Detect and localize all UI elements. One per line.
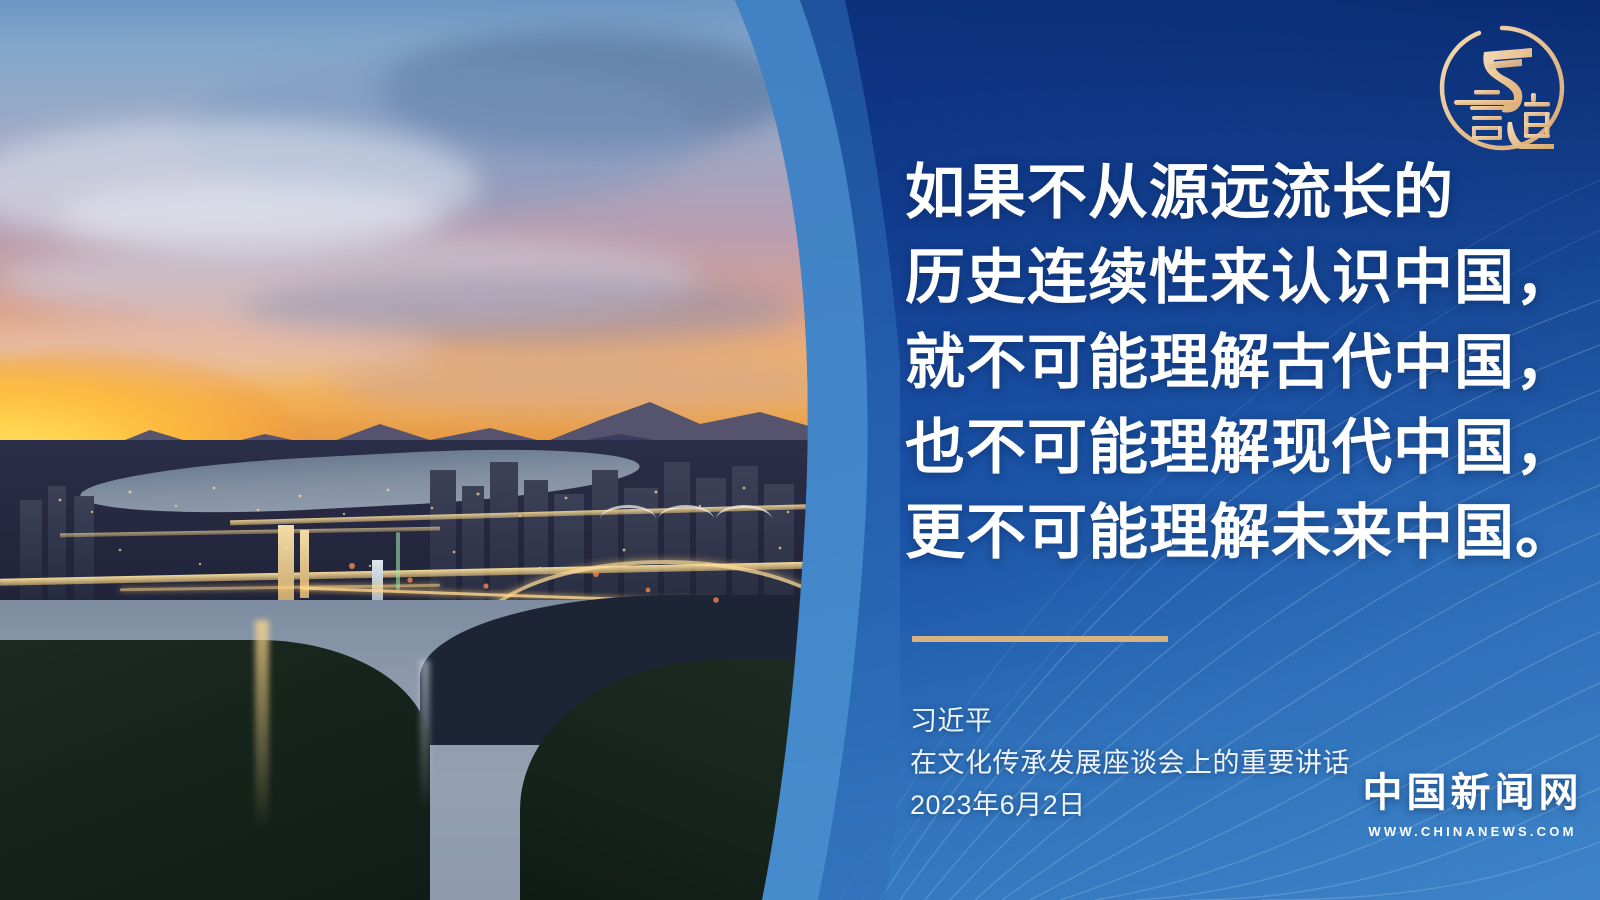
city-lights	[0, 440, 830, 740]
quote-line: 就不可能理解古代中国，	[905, 320, 1565, 405]
quote-line: 也不可能理解现代中国，	[905, 405, 1565, 490]
quote-line: 更不可能理解未来中国。	[905, 490, 1565, 575]
poster-root: 如果不从源远流长的 历史连续性来认识中国， 就不可能理解古代中国， 也不可能理解…	[0, 0, 1600, 900]
hero-photo	[0, 0, 830, 900]
gold-divider	[912, 636, 1168, 642]
chinanews-brand: 中国新闻网 WWW.CHINANEWS.COM	[1360, 760, 1585, 839]
brand-url: WWW.CHINANEWS.COM	[1360, 824, 1585, 839]
quote-line: 如果不从源远流长的	[905, 150, 1565, 235]
quote-line: 历史连续性来认识中国，	[905, 235, 1565, 320]
xi-yan-dao-seal-logo	[1432, 18, 1572, 158]
brand-name-cn: 中国新闻网	[1360, 760, 1585, 818]
attribution-speaker: 习近平	[910, 700, 1530, 742]
quote-block: 如果不从源远流长的 历史连续性来认识中国， 就不可能理解古代中国， 也不可能理解…	[905, 150, 1565, 575]
